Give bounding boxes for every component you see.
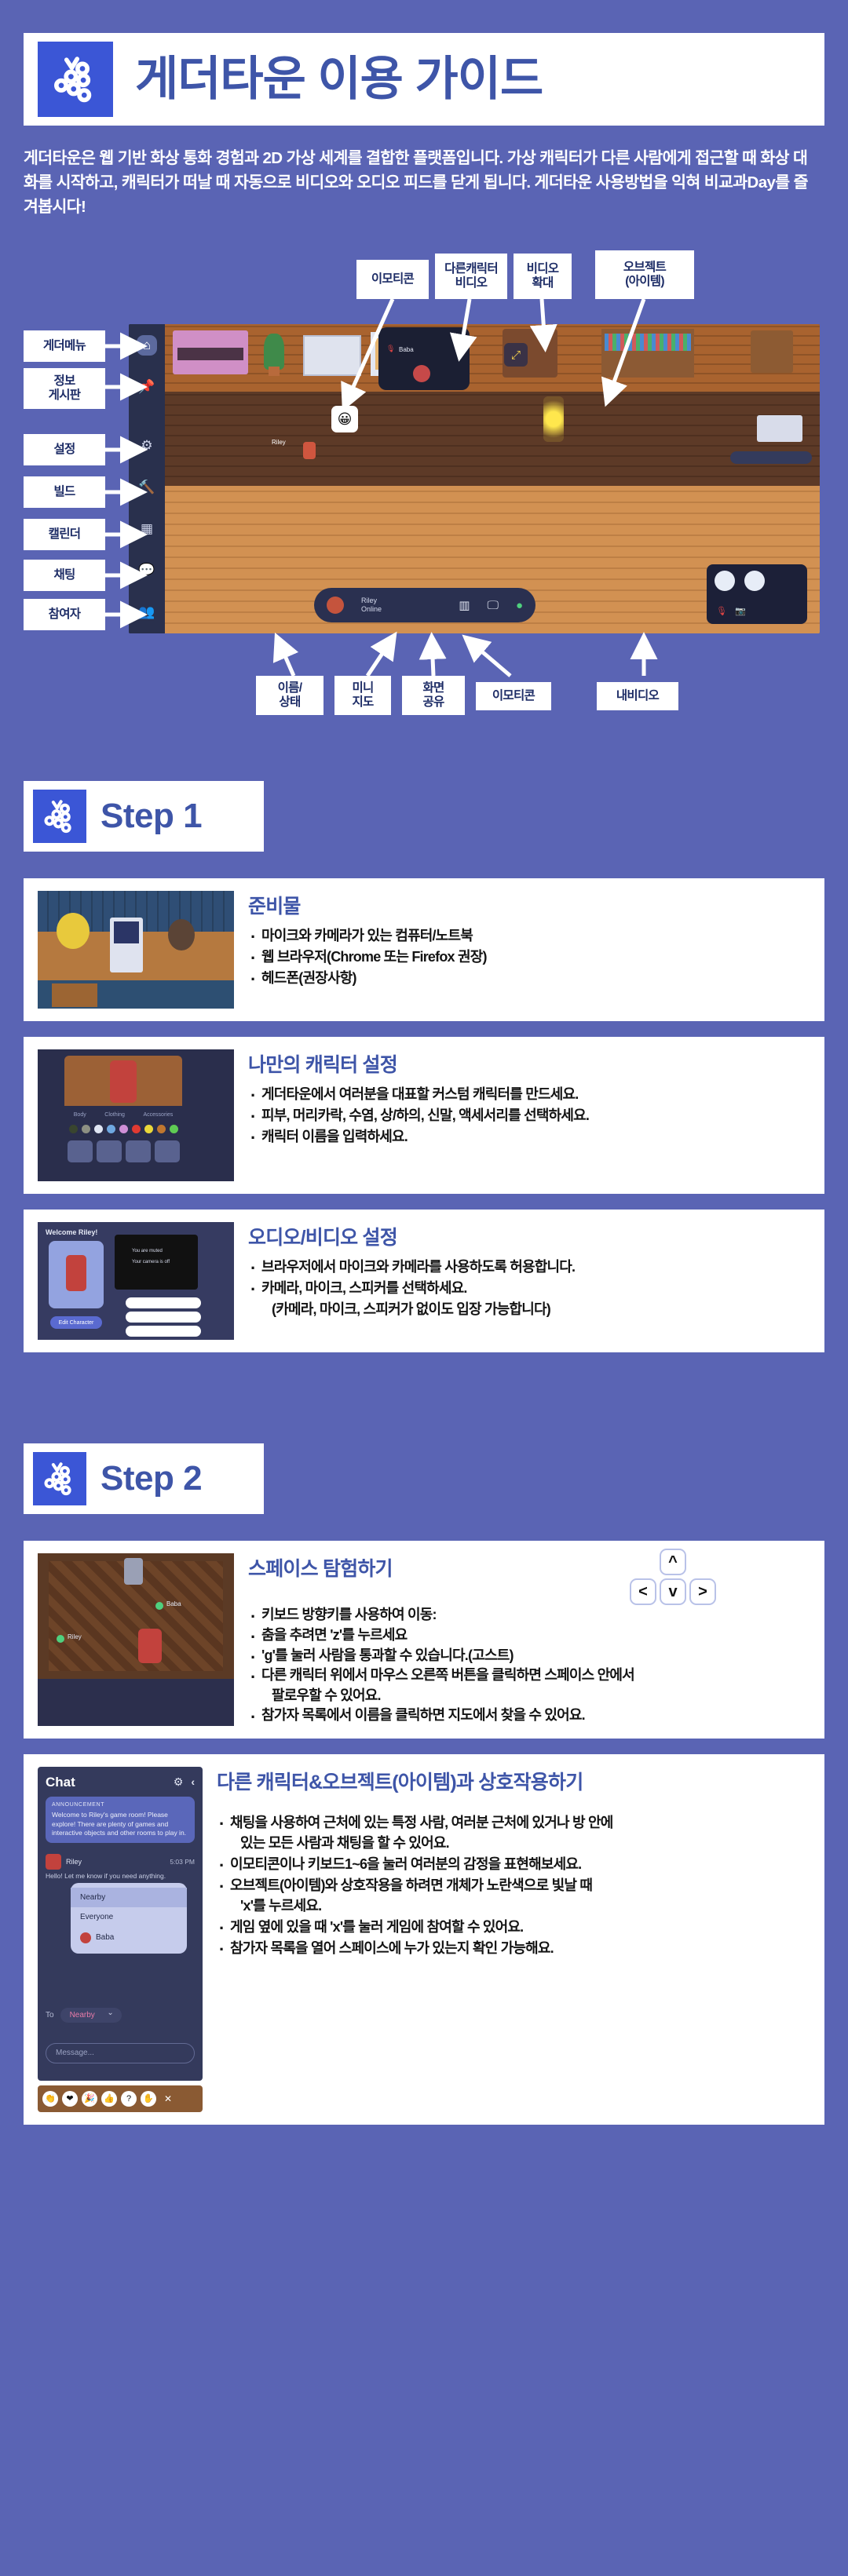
self-avatar [303,442,316,459]
list-item: 카메라, 마이크, 스피커를 선택하세요. [248,1278,810,1299]
step-2-banner: Step 2 [24,1443,264,1514]
announcement-body: Welcome to Riley's game room! Please exp… [52,1811,188,1837]
lamp-object [124,1558,143,1585]
camera-select[interactable] [126,1297,201,1308]
computer-icon [110,918,143,972]
swatch[interactable] [119,1125,128,1133]
gather-grapes-logo-icon [38,42,113,117]
plant-object [264,334,284,370]
desk-object [751,330,793,373]
avatar [80,1932,91,1943]
kitchen-object [173,330,248,374]
spacer [24,1514,824,1541]
list-item: 게더타운에서 여러분을 대표할 커스텀 캐릭터를 만드세요. [248,1084,810,1105]
swatch[interactable] [144,1125,153,1133]
character-builder-thumbnail: Body Clothing Accessories [38,1049,234,1181]
swatch[interactable] [107,1125,115,1133]
label-screenshare: 화면 공유 [402,676,465,715]
list-item: 팔로우할 수 있어요. [248,1686,810,1706]
camera-preview: You are muted Your camera is off [115,1235,198,1290]
card-title: 다른 캐릭터&오브젝트(아이템)과 상호작용하기 [217,1767,810,1795]
bullet-list: 게더타운에서 여러분을 대표할 커스텀 캐릭터를 만드세요. 피부, 머리카락,… [248,1084,810,1147]
arrow-up-key[interactable]: ^ [660,1549,686,1575]
player-status: Online [361,605,382,614]
list-item: 오브젝트(아이템)와 상호작용을 하려면 개체가 노란색으로 빛날 때 [217,1875,810,1896]
list-item: 헤드폰(권장사항) [248,968,810,989]
avatar [715,571,735,591]
whiteboard-object [303,335,361,376]
label-my-video: 내비디오 [597,682,678,710]
color-swatches[interactable] [69,1125,178,1133]
section-spacer [24,706,824,781]
self-player-name: Riley [68,1633,82,1640]
card-preparation: 준비물 마이크와 카메라가 있는 컴퓨터/노트북 웹 브라우저(Chrome 또… [24,878,824,1021]
emoji-question-icon[interactable]: ? [121,2091,137,2107]
emoji-party-icon[interactable]: 🎉 [82,2091,97,2107]
label-emoticon-bottom: 이모티콘 [476,682,551,710]
side-object-panel [757,415,802,442]
list-item: 키보드 방향키를 사용하여 이동: [248,1605,810,1626]
message-body: Hello! Let me know if you need anything. [46,1872,195,1881]
recipient-dropdown[interactable]: Nearby Everyone Baba [71,1883,187,1954]
close-icon[interactable]: ✕ [160,2091,176,2107]
gather-sidebar: ⌂ 📌 ⚙ 🔨 ▦ 💬 👥 [129,324,165,633]
card-body: 다른 캐릭터&오브젝트(아이템)과 상호작용하기 채팅을 사용하여 근처에 있는… [217,1767,810,2112]
list-item: 게임 옆에 있을 때 'x'를 눌러 게임에 참여할 수 있어요. [217,1917,810,1938]
mic-muted-icon: 🎙 [386,345,394,352]
list-item: 'x'를 누르세요. [217,1896,810,1917]
floor-dark [165,392,820,486]
card-av-setup: Welcome Riley! You are muted Your camera… [24,1210,824,1352]
other-player-name: Baba [399,346,414,353]
av-settings-thumbnail: Welcome Riley! You are muted Your camera… [38,1222,234,1340]
card-title: 스페이스 탐험하기 [248,1553,393,1582]
bookshelf-object [601,329,694,378]
welcome-text: Welcome Riley! [46,1228,97,1236]
card-body: 스페이스 탐험하기 ^ < v > 키보드 방향키를 사용하여 이동: 춤을 추… [248,1553,810,1725]
message-time: 5:03 PM [170,1858,195,1866]
arrow-right-key[interactable]: > [689,1578,716,1605]
camera-off-notice: Your camera is off [132,1260,170,1264]
list-item: 참가자 목록을 열어 스페이스에 누가 있는지 확인 가능해요. [217,1938,810,1959]
builder-tabs: Body Clothing Accessories [64,1109,182,1120]
step-1-label: Step 1 [101,797,202,836]
list-item: 다른 캐릭터 위에서 마우스 오른쪽 버튼을 클릭하면 스페이스 안에서 [248,1666,810,1686]
dropdown-option-everyone[interactable]: Everyone [71,1907,187,1927]
label-name-status: 이름/ 상태 [256,676,323,715]
grid-item[interactable] [68,1140,93,1162]
chat-header-icons: ⚙ ‹ [174,1775,195,1789]
swatch[interactable] [94,1125,103,1133]
card-title: 오디오/비디오 설정 [248,1222,810,1250]
recipient-row: To Nearby [46,2008,122,2023]
label-settings: 설정 [24,434,105,465]
to-label: To [46,2011,54,2020]
label-participants: 참여자 [24,599,105,630]
office-desk-thumbnail [38,891,234,1009]
tab-body[interactable]: Body [74,1112,86,1118]
bullet-list: 키보드 방향키를 사용하여 이동: 춤을 추려면 'z'를 누르세요 'g'를 … [248,1605,810,1725]
list-item: 캐릭터 이름을 입력하세요. [248,1126,810,1148]
card-interaction: Chat ⚙ ‹ ANNOUNCEMENT Welcome to Riley's… [24,1754,824,2125]
dropdown-option-nearby[interactable]: Nearby [71,1888,187,1907]
list-item: 피부, 머리카락, 수염, 상/하의, 신말, 액세서리를 선택하세요. [248,1105,810,1126]
minimap-icon[interactable]: ▥ [459,598,470,612]
dropdown-option-baba[interactable]: Baba [71,1927,187,1949]
swatch[interactable] [132,1125,141,1133]
bullet-list: 채팅을 사용하여 근처에 있는 특정 사람, 여러분 근처에 있거나 방 안에 … [217,1812,810,1958]
card-character-setup: Body Clothing Accessories [24,1037,824,1194]
announcement-label: ANNOUNCEMENT [52,1801,188,1808]
chat-message-head: Riley 5:03 PM [46,1854,195,1870]
grid-item[interactable] [97,1140,122,1162]
tab-accessories[interactable]: Accessories [143,1112,173,1118]
arrow-keys-top-row: ^ [660,1549,686,1575]
to-value[interactable]: Nearby [60,2008,122,2023]
avatar [744,571,765,591]
gather-grapes-logo-icon [33,790,86,843]
swatch[interactable] [82,1125,90,1133]
swatch[interactable] [170,1125,178,1133]
spacer [24,852,824,878]
emoji-heart-icon[interactable]: ❤ [62,2091,78,2107]
label-video-expand: 비디오 확대 [514,254,572,299]
list-item: 춤을 추려면 'z'를 누르세요 [248,1626,810,1646]
room-name-chip [730,451,812,464]
page-header: 게더타운 이용 가이드 [24,33,824,126]
card-body: 오디오/비디오 설정 브라우저에서 마이크와 카메라를 사용하도록 허용합니다.… [248,1222,810,1340]
arrow-keys-bottom-row: < v > [630,1578,716,1605]
list-item: 마이크와 카메라가 있는 컴퓨터/노트북 [248,925,810,947]
card-body: 나만의 캐릭터 설정 게더타운에서 여러분을 대표할 커스텀 캐릭터를 만드세요… [248,1049,810,1181]
muted-notice: You are muted [132,1249,163,1253]
emoji-bar: 👏 ❤ 🎉 👍 ? ✋ ✕ [38,2085,203,2112]
av-muted-icons: 🎙 📷 [716,606,746,616]
chat-panel-thumbnail: Chat ⚙ ‹ ANNOUNCEMENT Welcome to Riley's… [38,1767,203,2112]
card-title: 준비물 [248,891,810,919]
pin-icon[interactable]: 📌 [137,377,157,397]
card-header-row: 스페이스 탐험하기 ^ < v > [248,1553,810,1605]
step-2-label: Step 2 [101,1459,202,1498]
avatar [413,365,430,382]
item-grid[interactable] [68,1140,180,1162]
emoji-icon[interactable]: ● [516,599,523,612]
list-item: 이모티콘이나 키보드1~6을 눌러 여러분의 감정을 표현해보세요. [217,1854,810,1875]
label-other-char-video: 다른캐릭터 비디오 [435,254,507,299]
bullet-list: 마이크와 카메라가 있는 컴퓨터/노트북 웹 브라우저(Chrome 또는 Fi… [248,925,810,988]
list-item: (카메라, 마이크, 스피커가 없이도 입장 가능합니다) [248,1299,810,1320]
label-object-item: 오브젝트 (아이템) [595,250,694,299]
emoji-wave-icon[interactable]: ✋ [141,2091,156,2107]
announcement-bubble: ANNOUNCEMENT Welcome to Riley's game roo… [46,1797,195,1843]
card-explore-space: Baba Riley 스페이스 탐험하기 ^ < v > [24,1541,824,1738]
emoji-thumbsup-icon[interactable]: 👍 [101,2091,117,2107]
tab-clothing[interactable]: Clothing [104,1112,125,1118]
my-video-panel[interactable]: 🎙 📷 [707,564,807,624]
player-name: Riley [361,597,382,605]
avatar-preview [49,1241,104,1308]
list-item: 브라우저에서 마이크와 카메라를 사용하도록 허용합니다. [248,1257,810,1278]
other-player-name: Baba [166,1600,181,1607]
guide-page: 게더타운 이용 가이드 게더타운은 웹 기반 화상 통화 경험과 2D 가상 세… [0,33,848,2576]
swatch[interactable] [157,1125,166,1133]
list-item: 있는 모든 사람과 채팅을 할 수 있어요. [217,1833,810,1854]
section-spacer [24,1368,824,1443]
edit-character-button[interactable]: Edit Character [50,1316,102,1329]
gear-icon[interactable]: ⚙ [137,436,157,456]
mic-off-icon[interactable]: 🎙 [716,606,727,616]
card-title: 나만의 캐릭터 설정 [248,1049,810,1078]
page-title: 게더타운 이용 가이드 [135,56,543,103]
speaker-select[interactable] [126,1326,201,1337]
arrow-down-key[interactable]: v [660,1578,686,1605]
list-item: 참가자 목록에서 이름을 클릭하면 지도에서 찾을 수 있어요. [248,1706,810,1726]
annotated-screenshot: ⌂ 📌 ⚙ 🔨 ▦ 💬 👥 🎙 [24,243,824,706]
screenshare-icon[interactable]: 🖵 [487,599,498,612]
label-calendar: 캘린더 [24,519,105,550]
people-icon[interactable]: 👥 [137,602,157,622]
gather-app-screenshot: ⌂ 📌 ⚙ 🔨 ▦ 💬 👥 🎙 [129,324,820,633]
label-emoticon-top: 이모티콘 [356,260,429,299]
label-chat: 채팅 [24,560,105,591]
card-body: 준비물 마이크와 카메라가 있는 컴퓨터/노트북 웹 브라우저(Chrome 또… [248,891,810,1009]
emoji-clap-icon[interactable]: 👏 [42,2091,58,2107]
message-input[interactable]: Message... [46,2043,195,2063]
calendar-icon[interactable]: ▦ [137,519,157,539]
chat-header: Chat ⚙ ‹ [46,1775,195,1790]
microphone-select[interactable] [126,1312,201,1323]
intro-paragraph: 게더타운은 웹 기반 화상 통화 경험과 2D 가상 세계를 결합한 플랫폼입니… [24,146,824,219]
avatar [46,1854,61,1870]
name-status-block[interactable]: Riley Online [361,597,382,615]
avatar [66,1255,86,1291]
arrow-keys-cluster: ^ < v > [630,1549,716,1605]
gear-icon[interactable]: ⚙ [174,1775,184,1789]
highlighted-object-item[interactable] [543,396,564,442]
grid-item[interactable] [155,1140,180,1162]
emoji-icon: 😀 [331,406,358,432]
video-tiles [715,571,765,591]
arrow-left-key[interactable]: < [630,1578,656,1605]
list-item: 'g'를 눌러 사람을 통과할 수 있습니다.(고스트) [248,1646,810,1666]
label-gather-menu: 게더메뉴 [24,330,105,362]
avatar [110,1060,137,1103]
swatch[interactable] [69,1125,78,1133]
video-expand-icon[interactable]: ⤢ [504,343,528,367]
home-icon[interactable]: ⌂ [137,335,157,356]
virtual-room-map: 🎙 Baba ⤢ 😀 Riley Riley Online [165,324,820,633]
self-player-name-tag: Riley [272,439,286,446]
avatar[interactable] [327,597,344,614]
option-label: Baba [96,1933,114,1942]
label-build: 빌드 [24,476,105,508]
label-minimap: 미니 지도 [334,676,391,715]
bullet-list: 브라우저에서 마이크와 카메라를 사용하도록 허용합니다. 카메라, 마이크, … [248,1257,810,1319]
hammer-icon[interactable]: 🔨 [137,477,157,498]
avatar [138,1629,162,1663]
chat-bubble-icon[interactable]: 💬 [137,560,157,581]
step-1-banner: Step 1 [24,781,264,852]
drawer [52,983,97,1007]
space-room-thumbnail: Baba Riley [38,1553,234,1725]
camera-off-icon[interactable]: 📷 [735,606,746,616]
list-item: 채팅을 사용하여 근처에 있는 특정 사람, 여러분 근처에 있거나 방 안에 [217,1812,810,1833]
list-item: 웹 브라우저(Chrome 또는 Firefox 권장) [248,947,810,968]
gather-grapes-logo-icon [33,1452,86,1505]
other-character-video[interactable]: 🎙 Baba [378,327,470,390]
bottom-toolbar: Riley Online ▥ 🖵 ● [314,588,535,622]
chevron-left-icon[interactable]: ‹ [191,1775,195,1789]
message-author: Riley [66,1858,82,1866]
label-info-board: 정보 게시판 [24,368,105,409]
chat-title: Chat [46,1775,75,1790]
grid-item[interactable] [126,1140,151,1162]
